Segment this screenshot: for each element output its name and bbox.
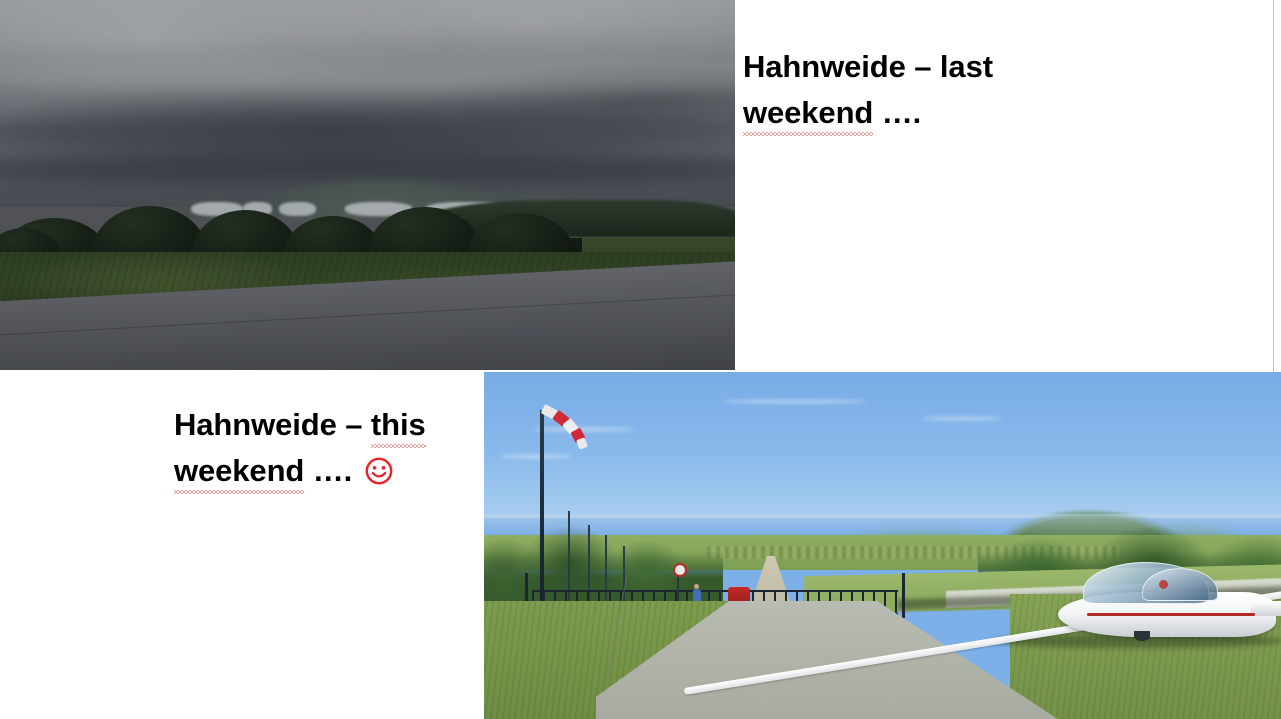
caption-this-tail: …. bbox=[304, 453, 360, 488]
caption-this-head: Hahnweide – bbox=[174, 407, 371, 442]
sunlight-overlay bbox=[484, 372, 1281, 719]
caption-last-line1: Hahnweide – last bbox=[743, 49, 993, 84]
caption-this-misspelled-word-1: this bbox=[371, 407, 426, 442]
caption-this-weekend: Hahnweide – thisweekend …. bbox=[174, 402, 474, 494]
caption-this-misspelled-word-2: weekend bbox=[174, 453, 304, 488]
photo-hahnweide-overcast bbox=[0, 0, 735, 370]
smiley-face-icon bbox=[364, 453, 394, 483]
overcast-gloom-overlay bbox=[0, 0, 735, 370]
slide-right-border bbox=[1273, 0, 1274, 372]
photo-hahnweide-sunny bbox=[484, 372, 1281, 719]
caption-last-tail: …. bbox=[873, 95, 921, 130]
caption-last-weekend: Hahnweide – lastweekend …. bbox=[743, 44, 1263, 136]
slide-canvas: Hahnweide – lastweekend …. Hahnweide – t… bbox=[0, 0, 1281, 719]
caption-last-misspelled-word: weekend bbox=[743, 95, 873, 130]
